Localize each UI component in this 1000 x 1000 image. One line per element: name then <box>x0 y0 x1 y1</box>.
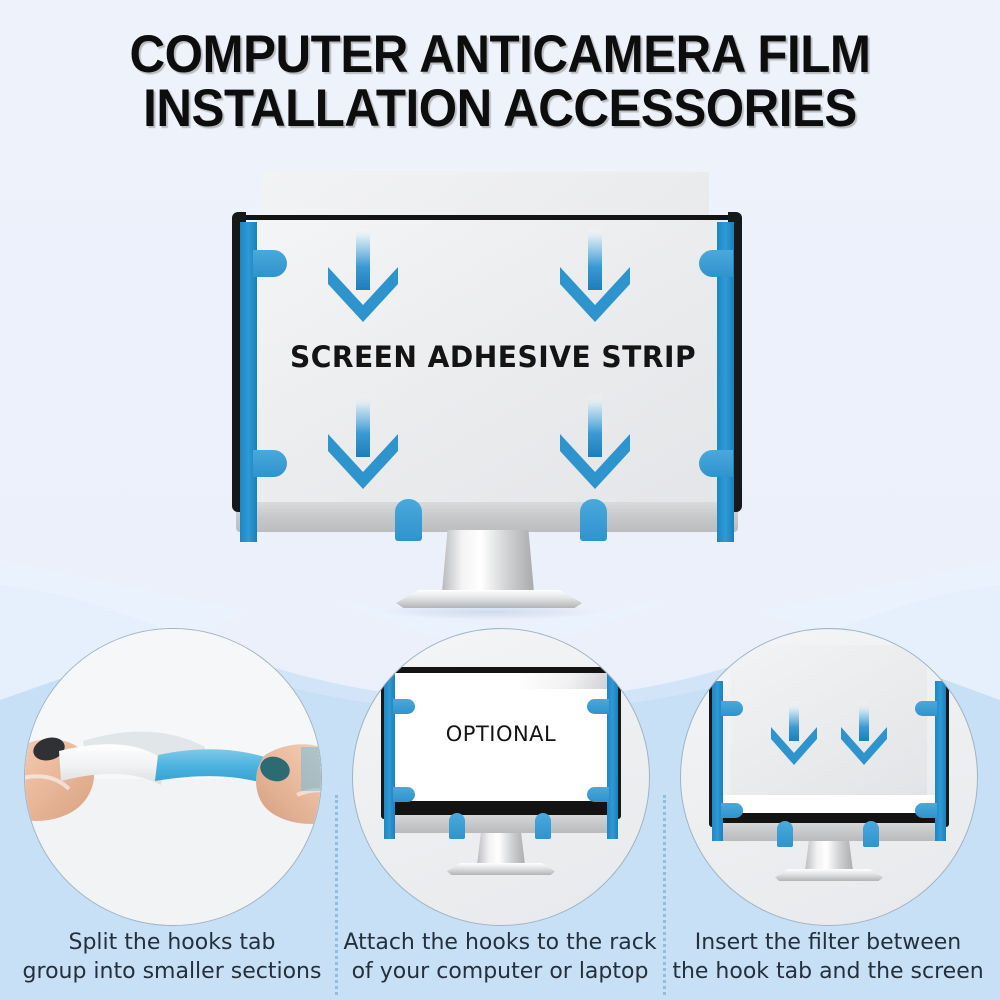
monitor-shadow <box>378 604 600 620</box>
hook-tab-right-top <box>699 250 733 277</box>
hook-tab-bottom-right <box>580 499 607 541</box>
monitor-with-hooks-icon: OPTIONAL <box>363 667 639 877</box>
down-arrow-icon <box>328 394 398 489</box>
hook-tab-left-top <box>721 701 743 716</box>
mini3-stand-base <box>775 869 883 881</box>
infographic-canvas: COMPUTER ANTICAMERA FILM INSTALLATION AC… <box>0 0 1000 1000</box>
hook-tab-right-top <box>587 699 609 714</box>
step-3-illustration <box>680 628 978 926</box>
hook-tab-bottom-left <box>449 813 465 839</box>
monitor-stand-neck <box>442 530 534 592</box>
mini2-stand-neck <box>477 833 525 865</box>
hook-rail-left <box>381 669 397 839</box>
down-arrow-icon <box>560 394 630 489</box>
hero-monitor-illustration: SCREEN ADHESIVE STRIP <box>228 172 758 622</box>
mini2-bottom-bar <box>385 815 617 833</box>
mini2-strip-left <box>384 673 395 839</box>
monitor-filter-insertion-icon <box>689 645 969 885</box>
hook-rail-right <box>605 669 621 839</box>
mini3-stand-neck <box>805 841 853 871</box>
step-panel-2: OPTIONAL <box>340 628 660 1000</box>
monitor-bottom-bar <box>236 502 738 532</box>
hook-tab-left-top <box>393 699 415 714</box>
hook-tab-bottom-left <box>777 821 793 847</box>
step-1-photo <box>24 628 322 926</box>
hands-splitting-strip-illustration <box>25 629 321 925</box>
mini2-strip-right <box>607 673 618 839</box>
hook-tab-left-bottom <box>721 803 743 818</box>
hook-tab-left-bottom <box>393 787 415 802</box>
hook-tab-left-bottom <box>253 450 287 477</box>
down-arrow-icon <box>771 701 817 765</box>
hook-tab-bottom-left <box>395 499 422 541</box>
hook-tab-right-top <box>915 701 937 716</box>
hook-tab-right-bottom <box>699 450 733 477</box>
hook-tab-bottom-right <box>535 813 551 839</box>
step-2-caption: Attach the hooks to the rack of your com… <box>336 928 664 986</box>
step-3-caption: Insert the filter between the hook tab a… <box>664 928 992 986</box>
step-panel-3: Insert the filter between the hook tab a… <box>668 628 988 1000</box>
hook-tab-right-bottom <box>915 803 937 818</box>
page-title: COMPUTER ANTICAMERA FILM INSTALLATION AC… <box>35 28 965 136</box>
down-arrow-icon <box>560 227 630 322</box>
hook-tab-left-top <box>253 250 287 277</box>
step-2-illustration: OPTIONAL <box>352 628 650 926</box>
down-arrow-icon <box>328 227 398 322</box>
hero-screen-label: SCREEN ADHESIVE STRIP <box>236 340 750 374</box>
step-1-caption: Split the hooks tab group into smaller s… <box>8 928 336 986</box>
mini2-screen: OPTIONAL <box>391 673 611 801</box>
screen-gloss <box>519 673 611 689</box>
step-panel-1: Split the hooks tab group into smaller s… <box>12 628 332 1000</box>
hook-tab-right-bottom <box>587 787 609 802</box>
hook-tab-bottom-right <box>863 821 879 847</box>
optional-label: OPTIONAL <box>391 722 611 746</box>
down-arrow-icon <box>841 701 887 765</box>
mini2-stand-base <box>447 863 555 875</box>
